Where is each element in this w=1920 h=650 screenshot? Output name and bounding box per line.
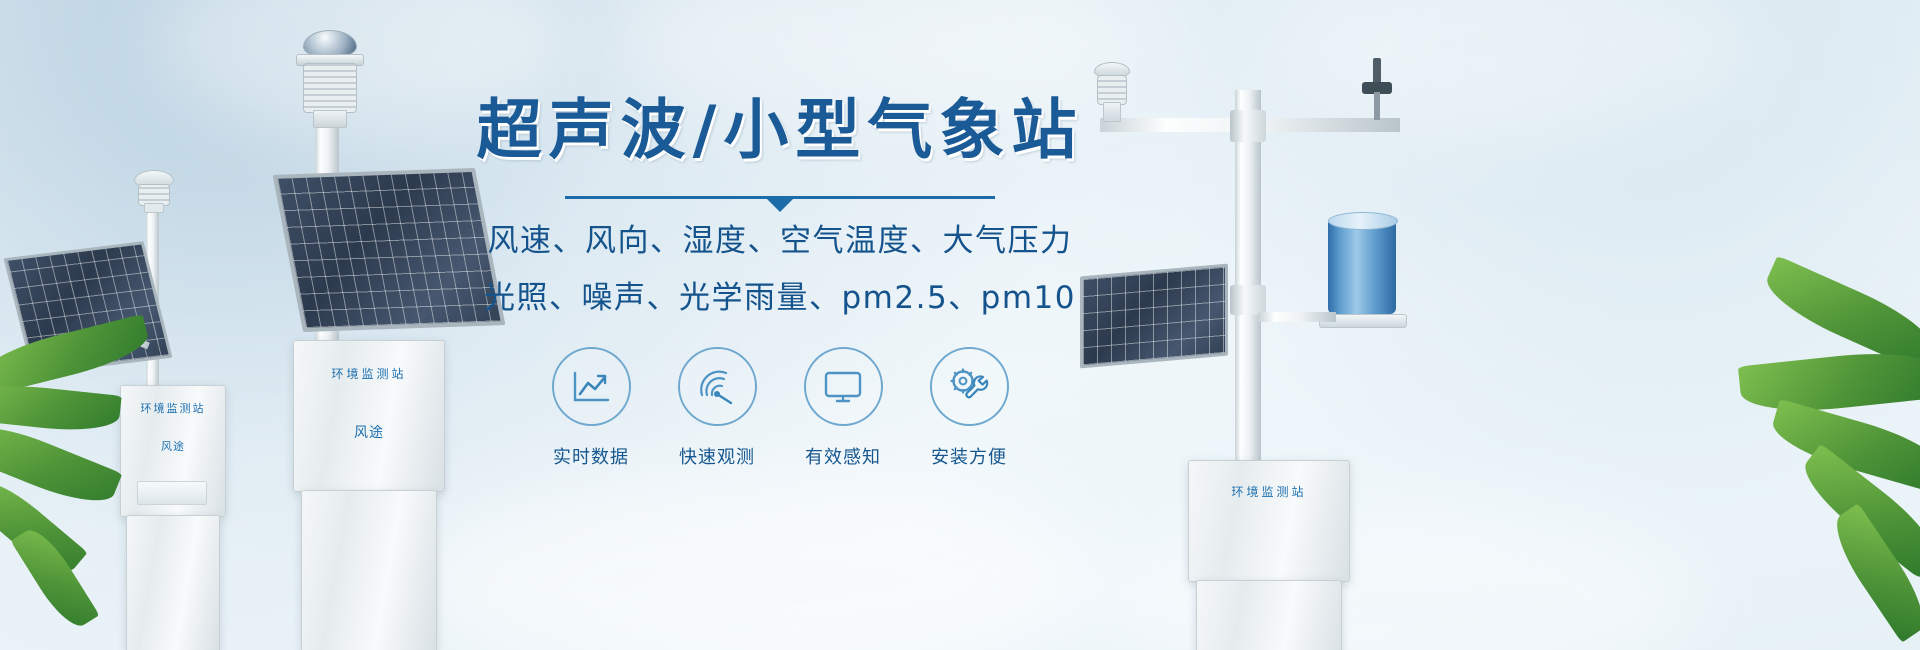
subtitle-line-1: 风速、风向、湿度、空气温度、大气压力 — [430, 215, 1130, 260]
feature-icon-circle — [930, 347, 1009, 426]
ultrasonic-sensor-head — [285, 30, 371, 130]
ultrasonic-sensor-head — [128, 170, 178, 210]
radiation-shield — [303, 63, 357, 113]
cloud-blob — [400, 470, 1100, 650]
banner-text-block: 超声波/小型气象站 风速、风向、湿度、空气温度、大气压力 光照、噪声、光学雨量、… — [430, 96, 1130, 469]
cabinet-label: 环境监测站 — [1189, 483, 1349, 500]
sensor-base — [313, 110, 347, 128]
leaf-icon — [1738, 346, 1920, 419]
line-chart-icon — [571, 370, 611, 404]
down-triangle-icon — [767, 199, 793, 212]
feature-label: 安装方便 — [926, 443, 1013, 469]
cabinet-lower — [1196, 580, 1342, 650]
feature-label: 快速观测 — [674, 443, 761, 469]
wind-vane-sensor — [1360, 58, 1394, 120]
feature-label: 有效感知 — [800, 443, 887, 469]
radar-signal-icon — [696, 367, 738, 407]
cabinet-label: 环境监测站 — [294, 365, 444, 382]
leaf-icon — [0, 380, 122, 435]
foliage-left — [0, 330, 220, 650]
feature-item-realtime-data[interactable]: 实时数据 — [548, 347, 635, 469]
monitor-screen-icon — [822, 369, 864, 405]
page-title: 超声波/小型气象站 — [430, 96, 1130, 166]
wrench-gear-icon — [948, 367, 990, 407]
equipment-cabinet: 环境监测站 风途 — [293, 340, 445, 492]
title-divider — [565, 196, 995, 199]
subtitle-line-2: 光照、噪声、光学雨量、pm2.5、pm10 — [430, 272, 1130, 317]
feature-item-easy-install[interactable]: 安装方便 — [926, 347, 1013, 469]
feature-icon-circle — [804, 347, 883, 426]
equipment-cabinet: 环境监测站 — [1188, 460, 1350, 582]
feature-item-fast-observation[interactable]: 快速观测 — [674, 347, 761, 469]
cabinet-lower — [301, 490, 437, 650]
brand-label: 风途 — [294, 422, 444, 442]
feature-icon-circle — [678, 347, 757, 426]
feature-icon-circle — [552, 347, 631, 426]
mast-collar — [1230, 110, 1266, 142]
feature-label: 实时数据 — [548, 443, 635, 469]
gauge-support-arm — [1258, 312, 1336, 322]
rain-gauge — [1328, 210, 1396, 330]
mast-collar — [1230, 285, 1266, 315]
feature-item-effective-sensing[interactable]: 有效感知 — [800, 347, 887, 469]
product-banner: 环境监测站 风途 环境监测站 风途 — [0, 0, 1920, 650]
foliage-right — [1700, 290, 1920, 650]
feature-list: 实时数据 快速观测 — [430, 347, 1130, 469]
